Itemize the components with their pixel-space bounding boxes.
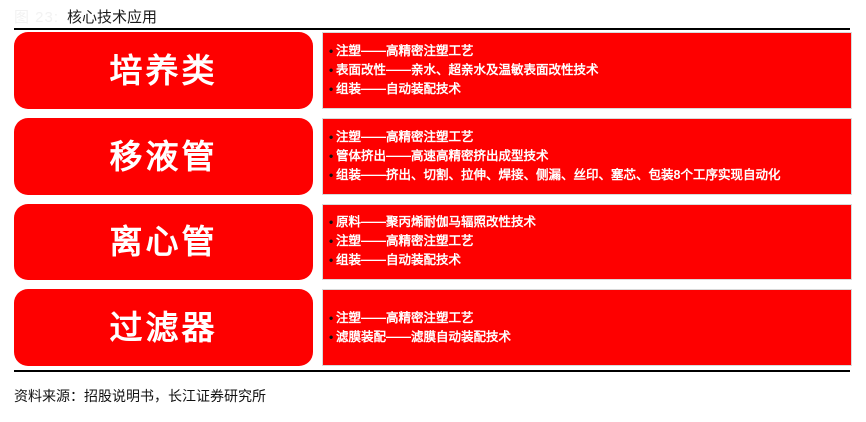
figure-number-label: 图 23: (14, 6, 59, 27)
bullet-icon: • (329, 328, 336, 347)
list-item-label: 注塑——高精密注塑工艺 (336, 232, 474, 251)
table-row: 过滤器 • 注塑——高精密注塑工艺 • 滤膜装配——滤膜自动装配技术 (14, 289, 852, 366)
list-item: • 组装——自动装配技术 (329, 251, 851, 270)
list-item-label: 表面改性——亲水、超亲水及温敏表面改性技术 (336, 61, 599, 80)
bullet-icon: • (329, 213, 336, 232)
list-item: • 注塑——高精密注塑工艺 (329, 42, 851, 61)
list-item-label: 注塑——高精密注塑工艺 (336, 42, 474, 61)
bullet-icon: • (329, 128, 336, 147)
list-item-label: 组装——自动装配技术 (336, 251, 461, 270)
list-item-label: 组装——自动装配技术 (336, 80, 461, 99)
list-item: • 管体挤出——高速高精密挤出成型技术 (329, 147, 851, 166)
technology-matrix: 培养类 • 注塑——高精密注塑工艺 • 表面改性——亲水、超亲水及温敏表面改性技… (14, 32, 852, 366)
technology-box-3: • 注塑——高精密注塑工艺 • 滤膜装配——滤膜自动装配技术 (322, 289, 852, 366)
table-row: 移液管 • 注塑——高精密注塑工艺 • 管体挤出——高速高精密挤出成型技术 • … (14, 118, 852, 195)
list-item-label: 组装——挤出、切割、拉伸、焊接、侧漏、丝印、塞芯、包装8个工序实现自动化 (336, 166, 780, 185)
bullet-icon: • (329, 42, 336, 61)
bullet-icon: • (329, 61, 336, 80)
category-label: 离心管 (110, 225, 218, 258)
list-item: • 注塑——高精密注塑工艺 (329, 232, 851, 251)
list-item: • 滤膜装配——滤膜自动装配技术 (329, 328, 851, 347)
technology-box-2: • 原料——聚丙烯耐伽马辐照改性技术 • 注塑——高精密注塑工艺 • 组装——自… (322, 204, 852, 281)
bullet-icon: • (329, 251, 336, 270)
list-item-label: 注塑——高精密注塑工艺 (336, 309, 474, 328)
list-item: • 注塑——高精密注塑工艺 (329, 309, 851, 328)
list-item: • 组装——自动装配技术 (329, 80, 851, 99)
technology-box-0: • 注塑——高精密注塑工艺 • 表面改性——亲水、超亲水及温敏表面改性技术 • … (322, 32, 852, 109)
category-label: 移液管 (110, 140, 218, 173)
table-row: 培养类 • 注塑——高精密注塑工艺 • 表面改性——亲水、超亲水及温敏表面改性技… (14, 32, 852, 109)
figure-title-row: 图 23: 核心技术应用 (0, 4, 866, 28)
list-item-label: 注塑——高精密注塑工艺 (336, 128, 474, 147)
bullet-icon: • (329, 147, 336, 166)
category-box-2[interactable]: 离心管 (14, 204, 313, 281)
category-box-1[interactable]: 移液管 (14, 118, 313, 195)
bullet-icon: • (329, 232, 336, 251)
list-item: • 表面改性——亲水、超亲水及温敏表面改性技术 (329, 61, 851, 80)
source-note: 资料来源：招股说明书，长江证券研究所 (14, 386, 266, 406)
page-title: 核心技术应用 (67, 6, 157, 27)
figure-container: 图 23: 核心技术应用 培养类 • 注塑——高精密注塑工艺 • 表面改性——亲… (0, 0, 866, 422)
bottom-divider (14, 370, 850, 372)
list-item: • 原料——聚丙烯耐伽马辐照改性技术 (329, 213, 851, 232)
category-box-0[interactable]: 培养类 (14, 32, 313, 109)
list-item: • 注塑——高精密注塑工艺 (329, 128, 851, 147)
category-label: 过滤器 (110, 311, 218, 344)
list-item-label: 滤膜装配——滤膜自动装配技术 (336, 328, 511, 347)
list-item-label: 管体挤出——高速高精密挤出成型技术 (336, 147, 549, 166)
list-item: • 组装——挤出、切割、拉伸、焊接、侧漏、丝印、塞芯、包装8个工序实现自动化 (329, 166, 851, 185)
category-box-3[interactable]: 过滤器 (14, 289, 313, 366)
category-label: 培养类 (110, 54, 218, 87)
top-divider (14, 28, 850, 30)
list-item-label: 原料——聚丙烯耐伽马辐照改性技术 (336, 213, 536, 232)
table-row: 离心管 • 原料——聚丙烯耐伽马辐照改性技术 • 注塑——高精密注塑工艺 • 组… (14, 204, 852, 281)
bullet-icon: • (329, 80, 336, 99)
bullet-icon: • (329, 309, 336, 328)
bullet-icon: • (329, 166, 336, 185)
technology-box-1: • 注塑——高精密注塑工艺 • 管体挤出——高速高精密挤出成型技术 • 组装——… (322, 118, 852, 195)
